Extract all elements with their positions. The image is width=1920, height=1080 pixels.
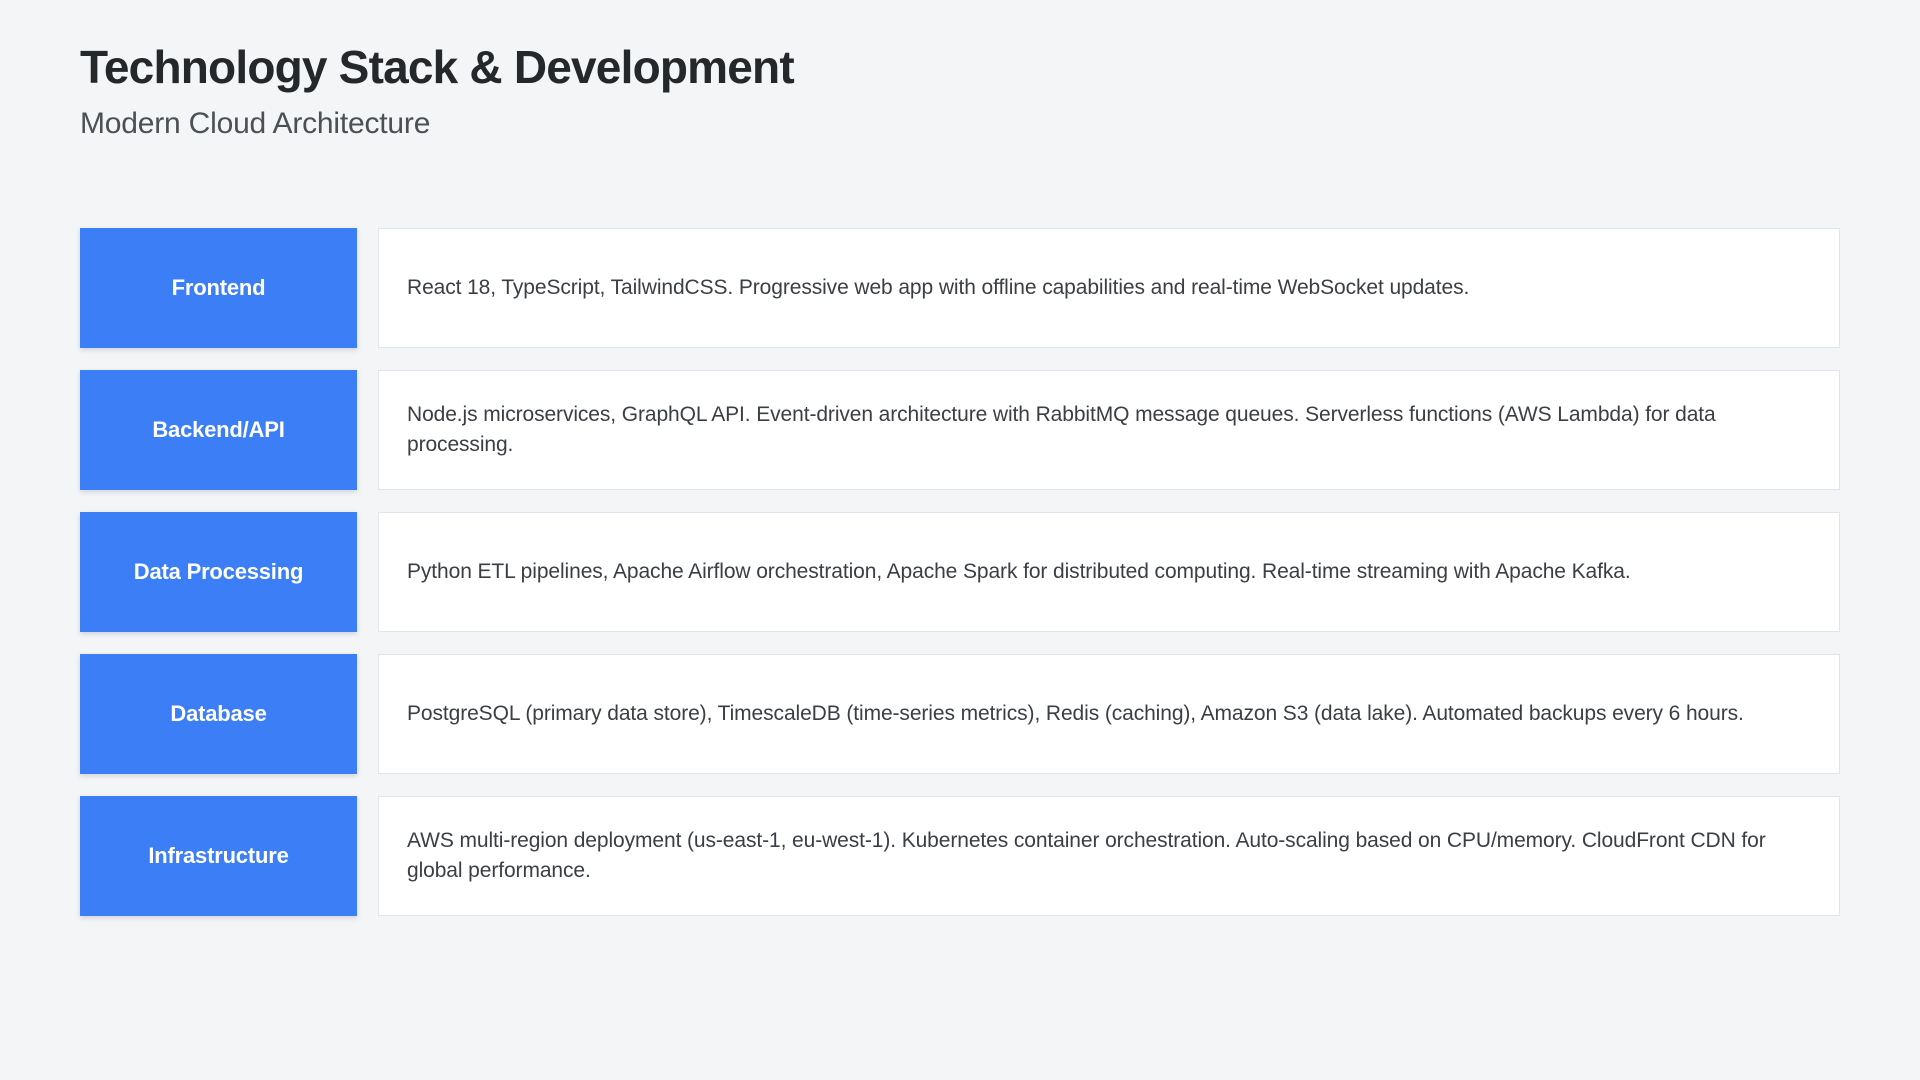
slide-header: Technology Stack & Development Modern Cl… bbox=[80, 42, 1840, 142]
tech-stack-list: Frontend React 18, TypeScript, TailwindC… bbox=[80, 228, 1840, 916]
tech-detail-text: React 18, TypeScript, TailwindCSS. Progr… bbox=[407, 273, 1469, 303]
tech-category-label: Database bbox=[170, 701, 266, 727]
tech-detail-card-backend-api: Node.js microservices, GraphQL API. Even… bbox=[378, 370, 1840, 490]
list-item: Frontend React 18, TypeScript, TailwindC… bbox=[80, 228, 1840, 348]
tech-detail-text: Python ETL pipelines, Apache Airflow orc… bbox=[407, 557, 1631, 587]
tech-detail-card-frontend: React 18, TypeScript, TailwindCSS. Progr… bbox=[378, 228, 1840, 348]
list-item: Data Processing Python ETL pipelines, Ap… bbox=[80, 512, 1840, 632]
tech-detail-text: AWS multi-region deployment (us-east-1, … bbox=[407, 826, 1811, 886]
tech-category-data-processing[interactable]: Data Processing bbox=[80, 512, 357, 632]
spacer bbox=[357, 654, 378, 774]
spacer bbox=[357, 796, 378, 916]
tech-detail-card-infrastructure: AWS multi-region deployment (us-east-1, … bbox=[378, 796, 1840, 916]
tech-category-database[interactable]: Database bbox=[80, 654, 357, 774]
tech-category-frontend[interactable]: Frontend bbox=[80, 228, 357, 348]
tech-category-label: Frontend bbox=[172, 275, 266, 301]
tech-category-label: Data Processing bbox=[134, 559, 303, 585]
list-item: Backend/API Node.js microservices, Graph… bbox=[80, 370, 1840, 490]
tech-category-label: Infrastructure bbox=[148, 843, 288, 869]
slide-canvas: Technology Stack & Development Modern Cl… bbox=[0, 0, 1920, 1080]
spacer bbox=[357, 370, 378, 490]
tech-category-infrastructure[interactable]: Infrastructure bbox=[80, 796, 357, 916]
page-subtitle: Modern Cloud Architecture bbox=[80, 106, 1840, 142]
spacer bbox=[357, 228, 378, 348]
list-item: Infrastructure AWS multi-region deployme… bbox=[80, 796, 1840, 916]
tech-category-backend-api[interactable]: Backend/API bbox=[80, 370, 357, 490]
tech-detail-text: PostgreSQL (primary data store), Timesca… bbox=[407, 699, 1744, 729]
tech-detail-card-data-processing: Python ETL pipelines, Apache Airflow orc… bbox=[378, 512, 1840, 632]
spacer bbox=[357, 512, 378, 632]
tech-detail-text: Node.js microservices, GraphQL API. Even… bbox=[407, 400, 1811, 460]
list-item: Database PostgreSQL (primary data store)… bbox=[80, 654, 1840, 774]
tech-category-label: Backend/API bbox=[152, 417, 284, 443]
tech-detail-card-database: PostgreSQL (primary data store), Timesca… bbox=[378, 654, 1840, 774]
page-title: Technology Stack & Development bbox=[80, 42, 1840, 94]
